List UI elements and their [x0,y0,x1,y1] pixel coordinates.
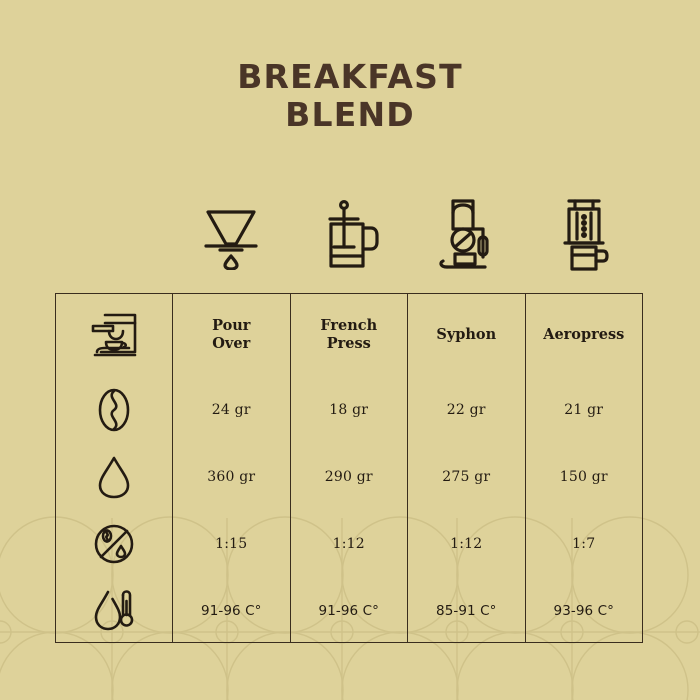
page-title-line-2: BLEND [0,96,700,134]
table-column-metric-icons [56,294,173,642]
french-press-icon [290,192,408,278]
water-drop-icon [56,443,172,510]
cell-ratio-syphon: 1:12 [408,510,525,577]
method-icon-spacer [55,192,172,278]
table-column-french-press: French Press 18 gr 290 gr 1:12 91-96 C° [291,294,409,642]
column-header-line-1: French [320,317,377,334]
column-header-pour-over: Pour Over [173,294,290,376]
cell-temperature-pour-over: 91-96 C° [173,577,290,644]
column-header-line-2: Over [212,335,250,352]
espresso-machine-icon [56,294,172,376]
cell-water-aeropress: 150 gr [526,443,643,510]
cell-dose-aeropress: 21 gr [526,376,643,443]
table-column-pour-over: Pour Over 24 gr 360 gr 1:15 91-96 C° [173,294,291,642]
cell-water-syphon: 275 gr [408,443,525,510]
cell-temperature-aeropress: 93-96 C° [526,577,643,644]
syphon-icon [408,192,526,278]
cell-ratio-french-press: 1:12 [291,510,408,577]
table-column-aeropress: Aeropress 21 gr 150 gr 1:7 93-96 C° [526,294,643,642]
page-title-line-1: BREAKFAST [0,58,700,96]
water-temperature-icon [56,577,172,644]
column-header-aeropress: Aeropress [526,294,643,376]
method-icon-strip [55,192,643,278]
aeropress-icon [525,192,643,278]
cell-temperature-french-press: 91-96 C° [291,577,408,644]
cell-water-french-press: 290 gr [291,443,408,510]
table-column-syphon: Syphon 22 gr 275 gr 1:12 85-91 C° [408,294,526,642]
cell-temperature-syphon: 85-91 C° [408,577,525,644]
cell-ratio-pour-over: 1:15 [173,510,290,577]
column-header-syphon: Syphon [408,294,525,376]
cell-water-pour-over: 360 gr [173,443,290,510]
infographic-canvas: BREAKFAST BLEND [0,0,700,700]
column-header-line-1: Syphon [436,326,496,343]
column-header-line-1: Pour [212,317,250,334]
column-header-line-1: Aeropress [543,326,624,343]
cell-dose-pour-over: 24 gr [173,376,290,443]
column-header-line-2: Press [327,335,371,352]
cell-dose-french-press: 18 gr [291,376,408,443]
column-header-french-press: French Press [291,294,408,376]
brew-parameter-table: Pour Over 24 gr 360 gr 1:15 91-96 C° Fre… [55,293,643,643]
coffee-bean-icon [56,376,172,443]
cell-ratio-aeropress: 1:7 [526,510,643,577]
ratio-icon [56,510,172,577]
cell-dose-syphon: 22 gr [408,376,525,443]
pour-over-dripper-icon [172,192,290,278]
page-title: BREAKFAST BLEND [0,58,700,134]
